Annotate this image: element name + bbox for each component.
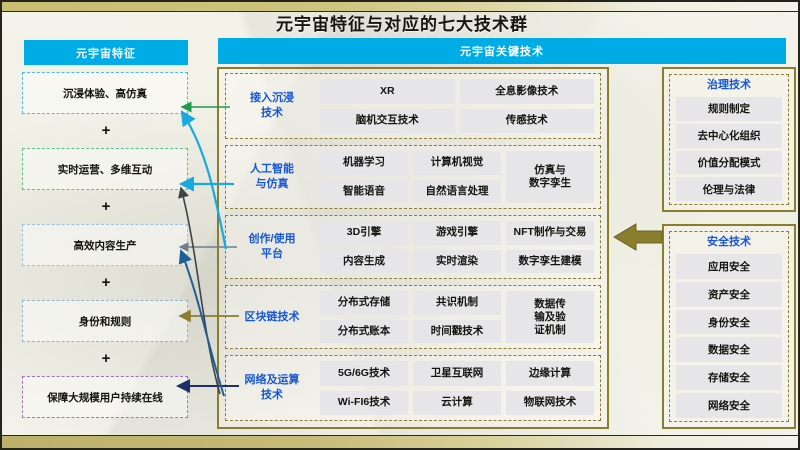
tech-cell[interactable]: 卫星互联网 [413,361,501,386]
tech-cell[interactable]: 边缘计算 [506,361,594,386]
side-panel-item[interactable]: 应用安全 [676,254,782,279]
side-panel-item[interactable]: 去中心化组织 [676,124,782,148]
tech-cell-column: 边缘计算物联网技术 [506,361,594,415]
tech-cell[interactable]: 时间戳技术 [413,320,501,344]
technology-groups-frame: 接入沉浸技术XR脑机交互技术全息影像技术传感技术人工智能与仿真机器学习智能语音计… [217,67,609,429]
tech-group-2: 人工智能与仿真机器学习智能语音计算机视觉自然语言处理仿真与数字孪生 [225,145,601,209]
feature-box-1: 沉浸体验、高仿真 [22,72,188,114]
tech-group-5: 网络及运算技术5G/6G技术Wi-FI6技术卫星互联网云计算边缘计算物联网技术 [225,355,601,421]
tech-cell-column: NFT制作与交易数字孪生建模 [506,221,594,273]
side-panel-security-inner: 安全技术应用安全资产安全身份安全数据安全存储安全网络安全 [669,231,789,422]
tech-cell[interactable]: 自然语言处理 [413,180,501,204]
header-metaverse-key-technologies: 元宇宙关键技术 [218,38,786,64]
tech-cell-column: 仿真与数字孪生 [506,151,594,203]
slide-canvas: 元宇宙特征与对应的七大技术群 元宇宙特征 元宇宙关键技术 沉浸体验、高仿真+实时… [0,0,800,450]
side-panel-item[interactable]: 网络安全 [676,393,782,418]
tech-cell[interactable]: 内容生成 [320,250,408,274]
tech-cell[interactable]: 智能语音 [320,180,408,204]
side-panel-item[interactable]: 规则制定 [676,97,782,121]
side-panel-governance: 治理技术规则制定去中心化组织价值分配模式伦理与法律 [662,67,796,212]
side-panel-governance-inner: 治理技术规则制定去中心化组织价值分配模式伦理与法律 [669,74,789,205]
page-title: 元宇宙特征与对应的七大技术群 [2,10,800,35]
tech-group-3: 创作/使用平台3D引擎内容生成游戏引擎实时渲染NFT制作与交易数字孪生建模 [225,215,601,279]
side-panel-title-2: 安全技术 [707,235,751,251]
side-panel-item[interactable]: 伦理与法律 [676,177,782,201]
tech-cell-column: 全息影像技术传感技术 [460,79,595,133]
tech-cell-column: 计算机视觉自然语言处理 [413,151,501,203]
side-panel-item[interactable]: 资产安全 [676,282,782,307]
tech-cell-column: 游戏引擎实时渲染 [413,221,501,273]
tech-cell[interactable]: 共识机制 [413,291,501,315]
tech-cell[interactable]: 分布式账本 [320,320,408,344]
side-panel-item[interactable]: 存储安全 [676,365,782,390]
tech-cell[interactable]: XR [320,79,455,104]
features-column: 沉浸体验、高仿真+实时运营、多维互动+高效内容生产+身份和规则+保障大规模用户持… [16,72,196,420]
tech-cell-column: 数据传输及验证机制 [506,291,594,343]
tech-cell-column: XR脑机交互技术 [320,79,455,133]
tech-cell[interactable]: NFT制作与交易 [506,221,594,245]
tech-group-name-3: 创作/使用平台 [230,216,314,278]
side-panel-item[interactable]: 数据安全 [676,337,782,362]
tech-cell[interactable]: Wi-FI6技术 [320,391,408,416]
tech-group-cells-5: 5G/6G技术Wi-FI6技术卫星互联网云计算边缘计算物联网技术 [318,356,596,420]
side-panel-item[interactable]: 价值分配模式 [676,151,782,175]
feature-box-5: 保障大规模用户持续在线 [22,376,188,418]
tech-cell[interactable]: 全息影像技术 [460,79,595,104]
tech-cell[interactable]: 数字孪生建模 [506,250,594,274]
tech-cell[interactable]: 仿真与数字孪生 [506,151,594,203]
feature-box-3: 高效内容生产 [22,224,188,266]
feature-plus-separator: + [16,351,196,367]
side-panel-title-1: 治理技术 [707,78,751,94]
tech-group-cells-4: 分布式存储分布式账本共识机制时间戳技术数据传输及验证机制 [318,286,596,348]
tech-cell[interactable]: 3D引擎 [320,221,408,245]
tech-cell[interactable]: 游戏引擎 [413,221,501,245]
side-panel-item[interactable]: 身份安全 [676,310,782,335]
feature-plus-separator: + [16,275,196,291]
header-metaverse-features: 元宇宙特征 [24,40,188,65]
tech-cell[interactable]: 5G/6G技术 [320,361,408,386]
big-left-arrow-to-centre [614,224,662,250]
tech-cell[interactable]: 实时渲染 [413,250,501,274]
feature-plus-separator: + [16,123,196,139]
tech-group-name-1: 接入沉浸技术 [230,74,314,138]
tech-cell[interactable]: 脑机交互技术 [320,109,455,134]
tech-cell[interactable]: 云计算 [413,391,501,416]
tech-cell-column: 5G/6G技术Wi-FI6技术 [320,361,408,415]
tech-cell[interactable]: 传感技术 [460,109,595,134]
tech-group-1: 接入沉浸技术XR脑机交互技术全息影像技术传感技术 [225,73,601,139]
feature-box-2: 实时运营、多维互动 [22,148,188,190]
tech-cell-column: 分布式存储分布式账本 [320,291,408,343]
tech-group-name-2: 人工智能与仿真 [230,146,314,208]
tech-group-cells-2: 机器学习智能语音计算机视觉自然语言处理仿真与数字孪生 [318,146,596,208]
tech-cell[interactable]: 计算机视觉 [413,151,501,175]
feature-box-4: 身份和规则 [22,300,188,342]
tech-cell-column: 机器学习智能语音 [320,151,408,203]
tech-group-cells-1: XR脑机交互技术全息影像技术传感技术 [318,74,596,138]
tech-cell[interactable]: 机器学习 [320,151,408,175]
tech-cell-column: 共识机制时间戳技术 [413,291,501,343]
tech-group-name-5: 网络及运算技术 [230,356,314,420]
bottom-decorative-band [2,435,798,448]
tech-cell[interactable]: 数据传输及验证机制 [506,291,594,343]
tech-cell[interactable]: 分布式存储 [320,291,408,315]
side-panel-security: 安全技术应用安全资产安全身份安全数据安全存储安全网络安全 [662,224,796,429]
tech-group-cells-3: 3D引擎内容生成游戏引擎实时渲染NFT制作与交易数字孪生建模 [318,216,596,278]
tech-group-4: 区块链技术分布式存储分布式账本共识机制时间戳技术数据传输及验证机制 [225,285,601,349]
tech-cell[interactable]: 物联网技术 [506,391,594,416]
tech-cell-column: 3D引擎内容生成 [320,221,408,273]
feature-plus-separator: + [16,199,196,215]
tech-cell-column: 卫星互联网云计算 [413,361,501,415]
tech-group-name-4: 区块链技术 [230,286,314,348]
